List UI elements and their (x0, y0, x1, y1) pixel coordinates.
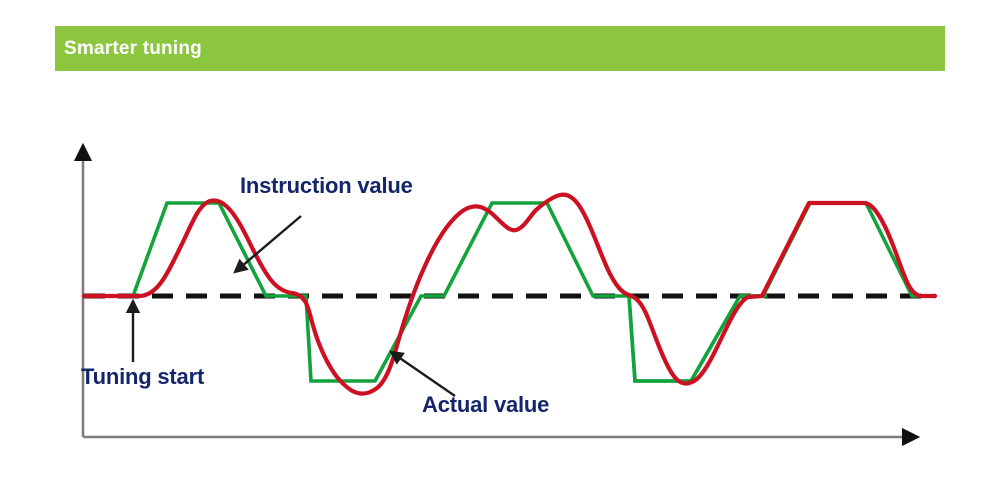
actual-value-arrow (391, 352, 455, 396)
label-actual-value: Actual value (422, 392, 549, 418)
label-tuning-start: Tuning start (81, 364, 204, 390)
instruction-value-arrow (235, 216, 301, 272)
page-root: Smarter tuning (0, 0, 1000, 477)
tuning-response-chart: Instruction value Tuning start Actual va… (0, 0, 1000, 477)
label-instruction-value: Instruction value (240, 173, 413, 199)
